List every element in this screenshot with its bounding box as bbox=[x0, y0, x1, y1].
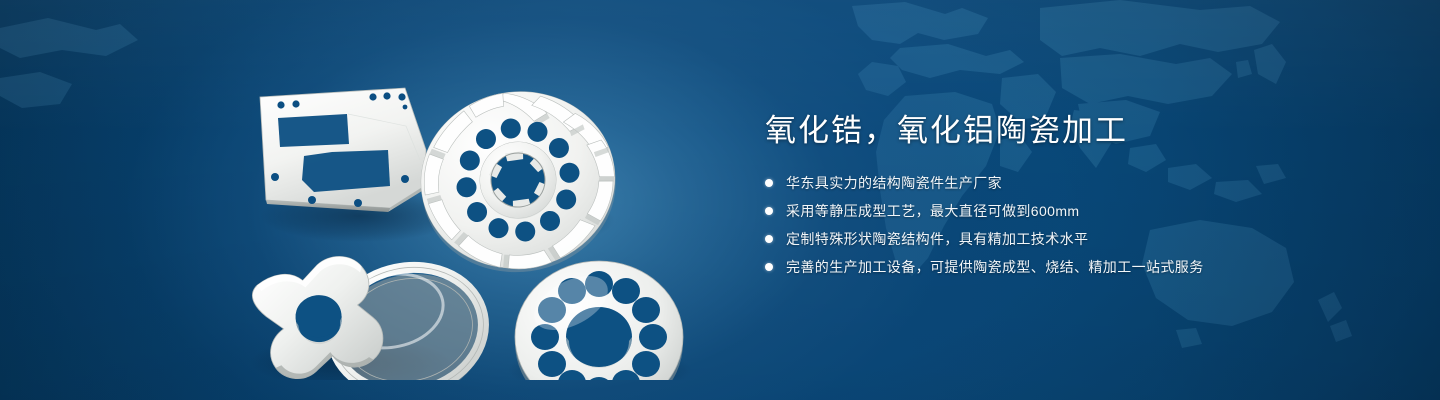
list-item-label: 完善的生产加工设备，可提供陶瓷成型、烧结、精加工一站式服务 bbox=[786, 257, 1204, 277]
bullet-dot-icon bbox=[765, 263, 773, 271]
list-item: 定制特殊形状陶瓷结构件，具有精加工技术水平 bbox=[765, 227, 1385, 251]
hero-banner: 氧化锆，氧化铝陶瓷加工 华东具实力的结构陶瓷件生产厂家 采用等静压成型工艺，最大… bbox=[0, 0, 1440, 400]
list-item: 采用等静压成型工艺，最大直径可做到600mm bbox=[765, 199, 1385, 223]
list-item: 完善的生产加工设备，可提供陶瓷成型、烧结、精加工一站式服务 bbox=[765, 255, 1385, 279]
ceramic-perforated-disc bbox=[515, 261, 683, 380]
list-item-label: 定制特殊形状陶瓷结构件，具有精加工技术水平 bbox=[786, 229, 1088, 249]
list-item-label: 华东具实力的结构陶瓷件生产厂家 bbox=[786, 173, 1002, 193]
list-item-label: 采用等静压成型工艺，最大直径可做到600mm bbox=[786, 201, 1079, 221]
ceramic-impeller bbox=[410, 79, 627, 284]
product-photo-cluster bbox=[230, 40, 730, 380]
feature-list: 华东具实力的结构陶瓷件生产厂家 采用等静压成型工艺，最大直径可做到600mm 定… bbox=[765, 171, 1385, 279]
banner-copy: 氧化锆，氧化铝陶瓷加工 华东具实力的结构陶瓷件生产厂家 采用等静压成型工艺，最大… bbox=[765, 112, 1385, 283]
bullet-dot-icon bbox=[765, 179, 773, 187]
page-title: 氧化锆，氧化铝陶瓷加工 bbox=[765, 112, 1385, 149]
bullet-dot-icon bbox=[765, 235, 773, 243]
ceramic-plate bbox=[260, 88, 426, 212]
bullet-dot-icon bbox=[765, 207, 773, 215]
list-item: 华东具实力的结构陶瓷件生产厂家 bbox=[765, 171, 1385, 195]
